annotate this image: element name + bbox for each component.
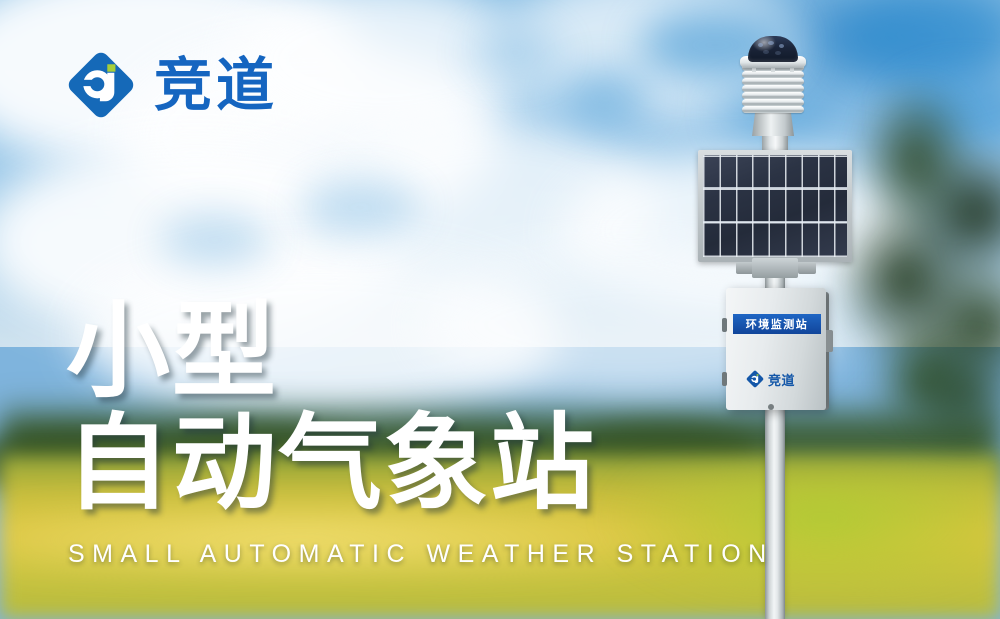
headline-block: 小型 自动气象站 xyxy=(66,298,596,516)
jingdao-diamond-logo-icon xyxy=(745,369,765,389)
headline-line-2: 自动气象站 xyxy=(66,410,596,516)
brand-name: 竞道 xyxy=(154,56,278,114)
jingdao-diamond-logo-icon xyxy=(64,48,138,122)
control-box-hinge-icon xyxy=(722,372,727,386)
weather-station-promo-banner: 环境监测站 竞道 xyxy=(0,0,1000,619)
control-box-logo-text: 竞道 xyxy=(768,370,795,389)
solar-cells xyxy=(703,155,847,257)
panel-bracket-right xyxy=(798,262,816,274)
control-box-banner-label: 环境监测站 xyxy=(746,319,809,330)
control-box xyxy=(726,288,826,410)
headline-line-1: 小型 xyxy=(66,298,596,404)
brand-logo[interactable]: 竞道 xyxy=(64,48,278,122)
control-box-screw-icon xyxy=(768,404,774,410)
solar-panel-icon xyxy=(698,150,852,262)
headline-subtitle: SMALL AUTOMATIC WEATHER STATION xyxy=(68,540,774,569)
control-box-banner: 环境监测站 xyxy=(733,314,821,334)
panel-mount-bracket xyxy=(752,258,798,278)
control-box-logo: 竞道 xyxy=(745,367,819,391)
ultrasonic-weather-sensor-icon xyxy=(748,36,798,62)
control-box-hinge-icon xyxy=(722,318,727,332)
